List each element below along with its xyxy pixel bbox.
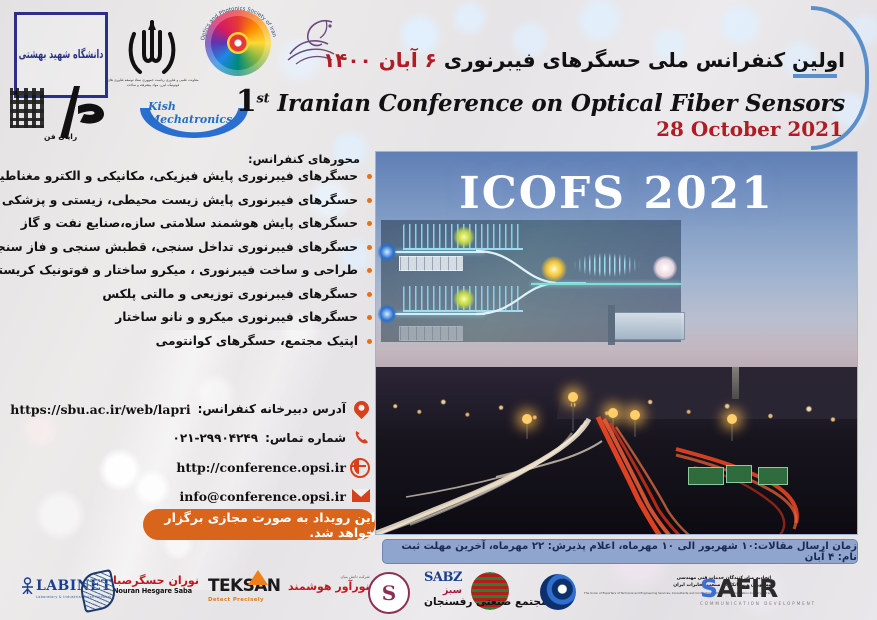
- title-english: 1st Iranian Conference on Optical Fiber …: [236, 84, 845, 119]
- kish-mechatronics-logo: Kish Mechatronics: [140, 96, 250, 138]
- svg-text:Optics and Photonics Society o: Optics and Photonics Society of Iran: [200, 6, 277, 41]
- fiber-output-line: [531, 283, 681, 285]
- contact-phone-value: ۰۲۱-۲۹۹۰۴۲۴۹: [173, 431, 259, 445]
- highway-sign: [726, 465, 752, 483]
- contact-address-label: آدرس دبیرخانه کنفرانس:: [198, 402, 346, 416]
- highway-sign: [758, 467, 788, 485]
- topic-item: حسگرهای فیبرنوری میکرو و نانو ساختار: [12, 311, 372, 323]
- safir-logo: SAFIR COMMUNICATION DEVELOPMENT: [700, 574, 816, 606]
- contact-email[interactable]: info@conference.opsi.ir: [179, 489, 346, 504]
- kish-mechatronics-label: Kish Mechatronics: [148, 100, 250, 126]
- title-persian-text: اولین کنفرانس ملی حسگرهای فیبرنوری: [444, 48, 845, 72]
- teksan-wordmark: TEKSAN: [208, 576, 280, 596]
- saba-glyph: S: [382, 581, 396, 605]
- conference-acronym: ICOFS 2021: [376, 168, 857, 219]
- location-pin-icon: [353, 400, 370, 419]
- top-logo-row: دانشگاه شهید بهشتی معاونت علمی و فناوری …: [0, 0, 380, 148]
- contact-row-email: info@conference.opsi.ir: [20, 485, 370, 507]
- topic-item: حسگرهای فیبرنوری پایش فیزیکی، مکانیکی و …: [12, 170, 372, 182]
- nouran-name-fa: نوران حسگرصبا: [113, 574, 199, 587]
- safir-wordmark: SAFIR: [700, 574, 816, 603]
- fiber-chip-lower: [399, 326, 463, 341]
- contact-block: آدرس دبیرخانه کنفرانس: https://sbu.ac.ir…: [20, 398, 370, 514]
- fiber-chip-upper: [399, 256, 463, 271]
- teksan-tagline: Detect Precisely: [208, 597, 280, 603]
- hero-image-panel: ICOFS 2021: [375, 151, 858, 535]
- rayan-fan-label: رایان فن: [44, 132, 77, 141]
- topic-item: حسگرهای پایش هوشمند سلامتی سازه،صنایع نف…: [12, 217, 372, 229]
- bracket-tail-decoration: [793, 74, 837, 78]
- light-glow: [653, 256, 677, 280]
- topics-heading: محورهای کنفرانس:: [248, 152, 360, 166]
- sbu-logo-text: دانشگاه شهید بهشتی: [19, 48, 104, 63]
- opsi-ring-text: Optics and Photonics Society of Iran: [196, 2, 282, 88]
- teksan-logo: TEKSAN Detect Precisely: [208, 576, 280, 603]
- etehadie-emblem-icon: [540, 574, 576, 610]
- rayan-mark-icon: [48, 86, 108, 138]
- topic-item: حسگرهای فیبرنوری تداخل سنجی، قطبش سنجی و…: [12, 241, 372, 253]
- rafsanjan-name-fa: مجتمع صنعتی رفسنجان: [424, 596, 548, 608]
- contact-row-address: آدرس دبیرخانه کنفرانس: https://sbu.ac.ir…: [20, 398, 370, 420]
- rayan-fan-logo: رایان فن: [10, 88, 118, 142]
- sabz-wordmark-fa: سبز: [424, 585, 462, 596]
- topic-item: حسگرهای فیبرنوری پایش زیست محیطی، زیستی …: [12, 194, 372, 206]
- iran-emblem-caption: معاونت علمی و فناوری ریاست جمهوری ستاد ت…: [103, 78, 203, 89]
- title-persian: اولین کنفرانس ملی حسگرهای فیبرنوری ۶ آبا…: [323, 48, 845, 72]
- teksan-triangle-icon: [248, 570, 268, 585]
- topic-item: طراحی و ساخت فیبرنوری ، میکرو ساختار و ف…: [12, 264, 372, 276]
- contact-website[interactable]: http://conference.opsi.ir: [176, 460, 346, 475]
- nouravar-hooshmand-logo: شرکت دانش بنیان نورآور هوشمند: [288, 574, 370, 593]
- topics-list: حسگرهای فیبرنوری پایش فیزیکی، مکانیکی و …: [12, 170, 372, 358]
- fiber-lead-lower: [395, 313, 485, 315]
- topic-item: اپتیک مجتمع، حسگرهای کوانتومی: [12, 335, 372, 347]
- light-glow: [377, 304, 397, 324]
- contact-address-url[interactable]: https://sbu.ac.ir/web/lapri: [10, 402, 190, 417]
- safir-tagline: COMMUNICATION DEVELOPMENT: [700, 601, 816, 606]
- light-glow: [541, 256, 567, 282]
- sponsor-footer: LABINET Laboratory & Industrial Sales Ne…: [0, 566, 877, 620]
- nouran-name-en: Nouran Hesgare Saba: [113, 587, 199, 595]
- conference-poster: دانشگاه شهید بهشتی معاونت علمی و فناوری …: [0, 0, 877, 620]
- safir-rest: AFIR: [717, 574, 777, 603]
- light-glow: [453, 226, 475, 248]
- title-english-text: Iranian Conference on Optical Fiber Sens…: [277, 90, 845, 117]
- interference-waveform: [559, 248, 654, 282]
- virtual-event-banner: این رویداد به صورت مجازی برگزار خواهد شد…: [143, 509, 375, 540]
- envelope-icon: [353, 487, 370, 506]
- contact-row-phone: شماره تماس: ۰۲۱-۲۹۹۰۴۲۴۹: [20, 427, 370, 449]
- light-glow: [377, 242, 397, 262]
- sabz-logo: SABZ سبز: [424, 570, 462, 596]
- mojtame-sanati-rafsanjan-logo: مجتمع صنعتی رفسنجان: [470, 572, 510, 610]
- nouravar-name-fa: نورآور هوشمند: [288, 580, 370, 593]
- caliper-sensor-icon: [613, 312, 685, 340]
- labinet-symbol-icon: [20, 577, 35, 594]
- iran-emblem-logo: [122, 18, 182, 76]
- nouravar-prefix: شرکت دانش بنیان: [288, 574, 370, 579]
- schedule-bar: زمان ارسال مقالات:۱۰ شهریور الی ۱۰ مهرما…: [382, 539, 858, 564]
- fiber-lead-upper: [395, 251, 485, 253]
- tehran-highway-night-scene: [376, 367, 857, 534]
- opsi-ring-label: Optics and Photonics Society of Iran: [200, 6, 277, 41]
- contact-phone-label: شماره تماس:: [265, 431, 346, 445]
- milad-tower-shaft: [732, 367, 739, 399]
- title-ordinal: 1: [236, 84, 257, 119]
- qr-code-graphic: [10, 88, 44, 128]
- safir-initial: S: [700, 574, 717, 603]
- saba-logo: S: [368, 572, 410, 612]
- phone-icon: [353, 429, 370, 448]
- date-english: 28 October 2021: [656, 117, 843, 141]
- globe-icon: [353, 458, 370, 477]
- light-glow: [453, 288, 475, 310]
- saba-emblem: S: [368, 572, 410, 614]
- highway-sign: [688, 467, 724, 485]
- contact-row-website: http://conference.opsi.ir: [20, 456, 370, 478]
- sabz-wordmark-en: SABZ: [424, 570, 462, 585]
- topic-item: حسگرهای فیبرنوری توزیعی و مالتی پلکس: [12, 288, 372, 300]
- date-persian: ۶ آبان ۱۴۰۰: [323, 48, 437, 72]
- title-ordinal-suffix: st: [257, 91, 270, 106]
- nouran-hesgare-saba-logo: نوران حسگرصبا Nouran Hesgare Saba: [113, 574, 199, 595]
- fiber-sensor-diagram: [381, 220, 681, 342]
